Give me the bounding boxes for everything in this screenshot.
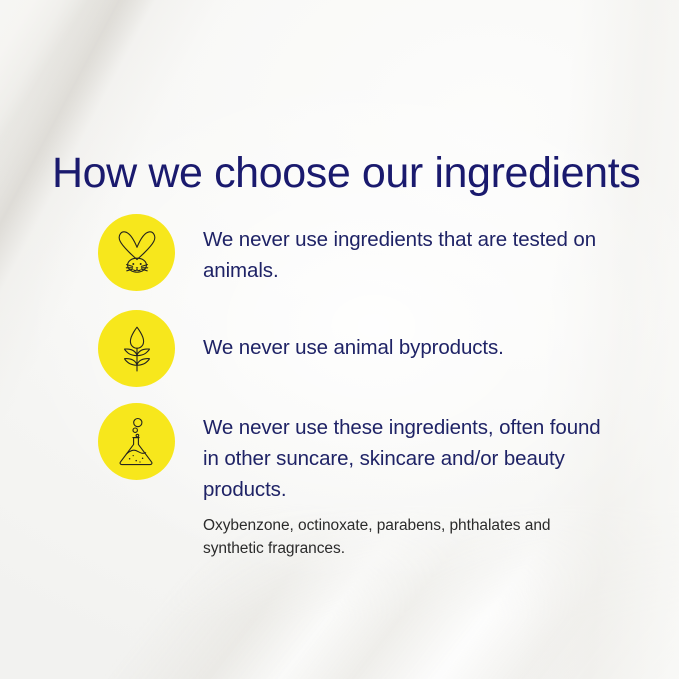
icon-badge-cruelty-free <box>98 214 175 291</box>
erlenmeyer-flask-icon <box>114 417 160 467</box>
bunny-heart-ears-icon <box>113 228 161 278</box>
icon-badge-flask <box>98 403 175 480</box>
feature-text: We never use animal byproducts. <box>203 310 504 363</box>
infographic-canvas: How we choose our ingredients <box>0 0 679 679</box>
feature-item-excluded-ingredients: We never use these ingredients, often fo… <box>0 403 679 523</box>
feature-text: We never use these ingredients, often fo… <box>203 403 603 505</box>
icon-badge-plant <box>98 310 175 387</box>
feature-item-no-animal-byproducts: We never use animal byproducts. <box>0 310 679 403</box>
content-area: How we choose our ingredients <box>0 0 679 679</box>
page-title: How we choose our ingredients <box>52 151 640 196</box>
feature-text: We never use ingredients that are tested… <box>203 214 603 286</box>
footnote-excluded-ingredients: Oxybenzone, octinoxate, parabens, phthal… <box>203 514 573 560</box>
feature-list: We never use ingredients that are tested… <box>0 214 679 523</box>
plant-sprig-icon <box>115 324 159 374</box>
feature-item-cruelty-free: We never use ingredients that are tested… <box>0 214 679 310</box>
